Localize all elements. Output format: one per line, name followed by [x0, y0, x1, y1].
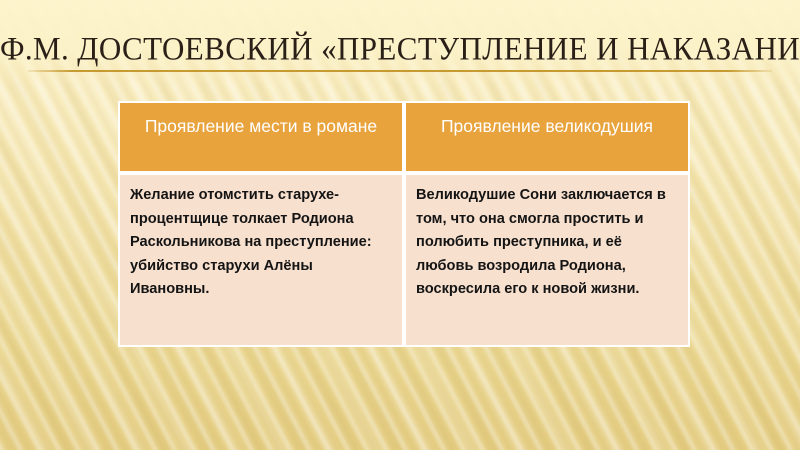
table-header-magnanimity-box: Проявление великодушия — [404, 101, 690, 173]
table-header-magnanimity-label: Проявление великодушия — [416, 115, 678, 138]
table-body-revenge-text: Желание отомстить старухе-процентщице то… — [130, 184, 390, 302]
table-body-magnanimity-text: Великодушие Сони заключается в том, что … — [416, 184, 676, 302]
table-header-cell-magnanimity: Проявление великодушия — [404, 101, 690, 173]
title-underline-rule — [28, 70, 772, 72]
table-header-revenge-box: Проявление мести в романе — [118, 101, 404, 173]
table-header-cell-revenge: Проявление мести в романе — [118, 101, 404, 173]
table-body-revenge-box: Желание отомстить старухе-процентщице то… — [118, 173, 404, 347]
comparison-table: Проявление мести в романе Проявление вел… — [118, 101, 690, 347]
table-body-cell-magnanimity: Великодушие Сони заключается в том, что … — [404, 173, 690, 347]
slide-title-container: Ф.М. Достоевский «Преступление и наказан… — [0, 30, 800, 90]
presentation-slide: Ф.М. Достоевский «Преступление и наказан… — [0, 0, 800, 450]
table-body-cell-revenge: Желание отомстить старухе-процентщице то… — [118, 173, 404, 347]
table-body-magnanimity-box: Великодушие Сони заключается в том, что … — [404, 173, 690, 347]
page-title: Ф.М. Достоевский «Преступление и наказан… — [0, 28, 800, 70]
table-header-row: Проявление мести в романе Проявление вел… — [118, 101, 690, 173]
table-header-revenge-label: Проявление мести в романе — [130, 115, 392, 138]
table-row: Желание отомстить старухе-процентщице то… — [118, 173, 690, 347]
